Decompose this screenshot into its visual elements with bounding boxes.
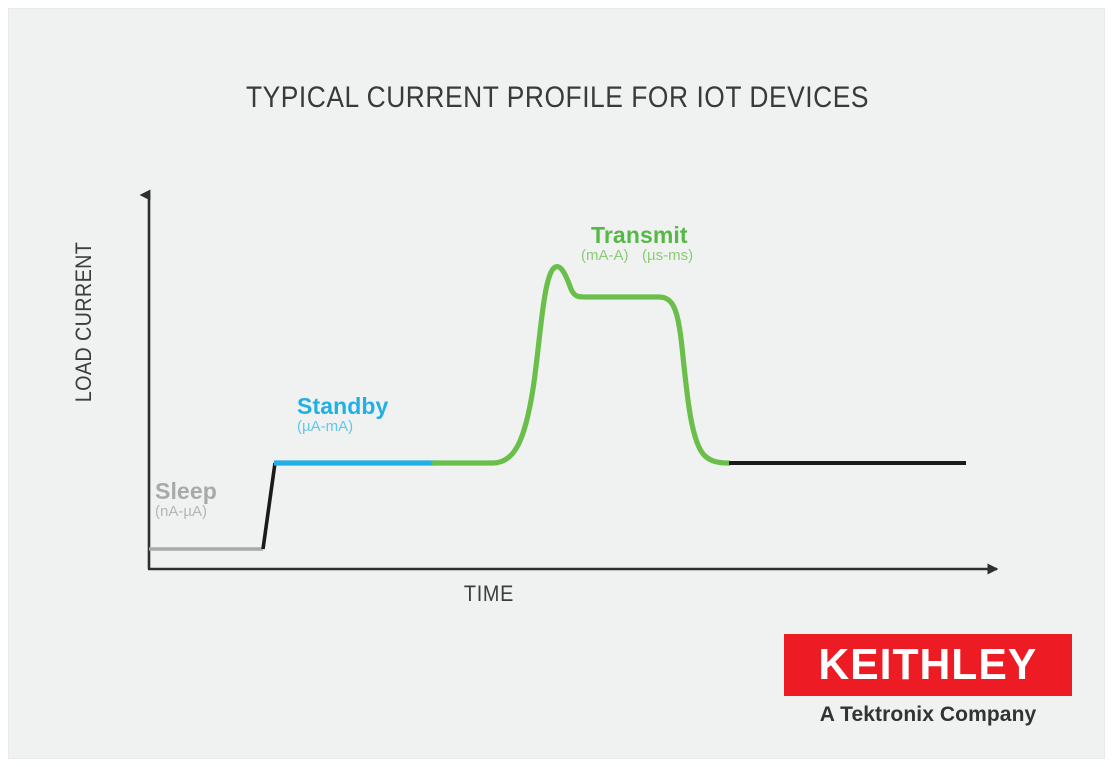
y-axis-title: LOAD CURRENT: [71, 232, 97, 412]
phase-range-sleep-current: (nA-µA): [155, 503, 207, 522]
keithley-logo: KEITHLEY A Tektronix Company: [784, 634, 1072, 727]
phase-range-transmit-time: (µs-ms): [642, 247, 693, 266]
transmit-curve: [434, 267, 729, 463]
phase-range-transmit-current: (mA-A): [581, 247, 629, 266]
keithley-wordmark: KEITHLEY: [819, 643, 1038, 687]
x-axis-title: TIME: [417, 581, 561, 607]
keithley-tagline: A Tektronix Company: [784, 703, 1072, 727]
phase-name-transmit: Transmit: [581, 223, 693, 247]
chart-canvas: TYPICAL CURRENT PROFILE FOR IOT DEVICES: [8, 8, 1105, 759]
phase-label-standby: Standby (µA-mA): [297, 394, 388, 437]
phase-label-transmit: Transmit (mA-A) (µs-ms): [581, 223, 693, 266]
phase-label-sleep: Sleep (nA-µA): [155, 479, 217, 522]
keithley-logo-mark: KEITHLEY: [784, 634, 1072, 696]
phase-range-standby-current: (µA-mA): [297, 418, 353, 437]
figure-root: TYPICAL CURRENT PROFILE FOR IOT DEVICES: [0, 0, 1113, 767]
phase-name-standby: Standby: [297, 394, 388, 418]
phase-name-sleep: Sleep: [155, 479, 217, 503]
wake-transition-curve: [263, 463, 275, 549]
